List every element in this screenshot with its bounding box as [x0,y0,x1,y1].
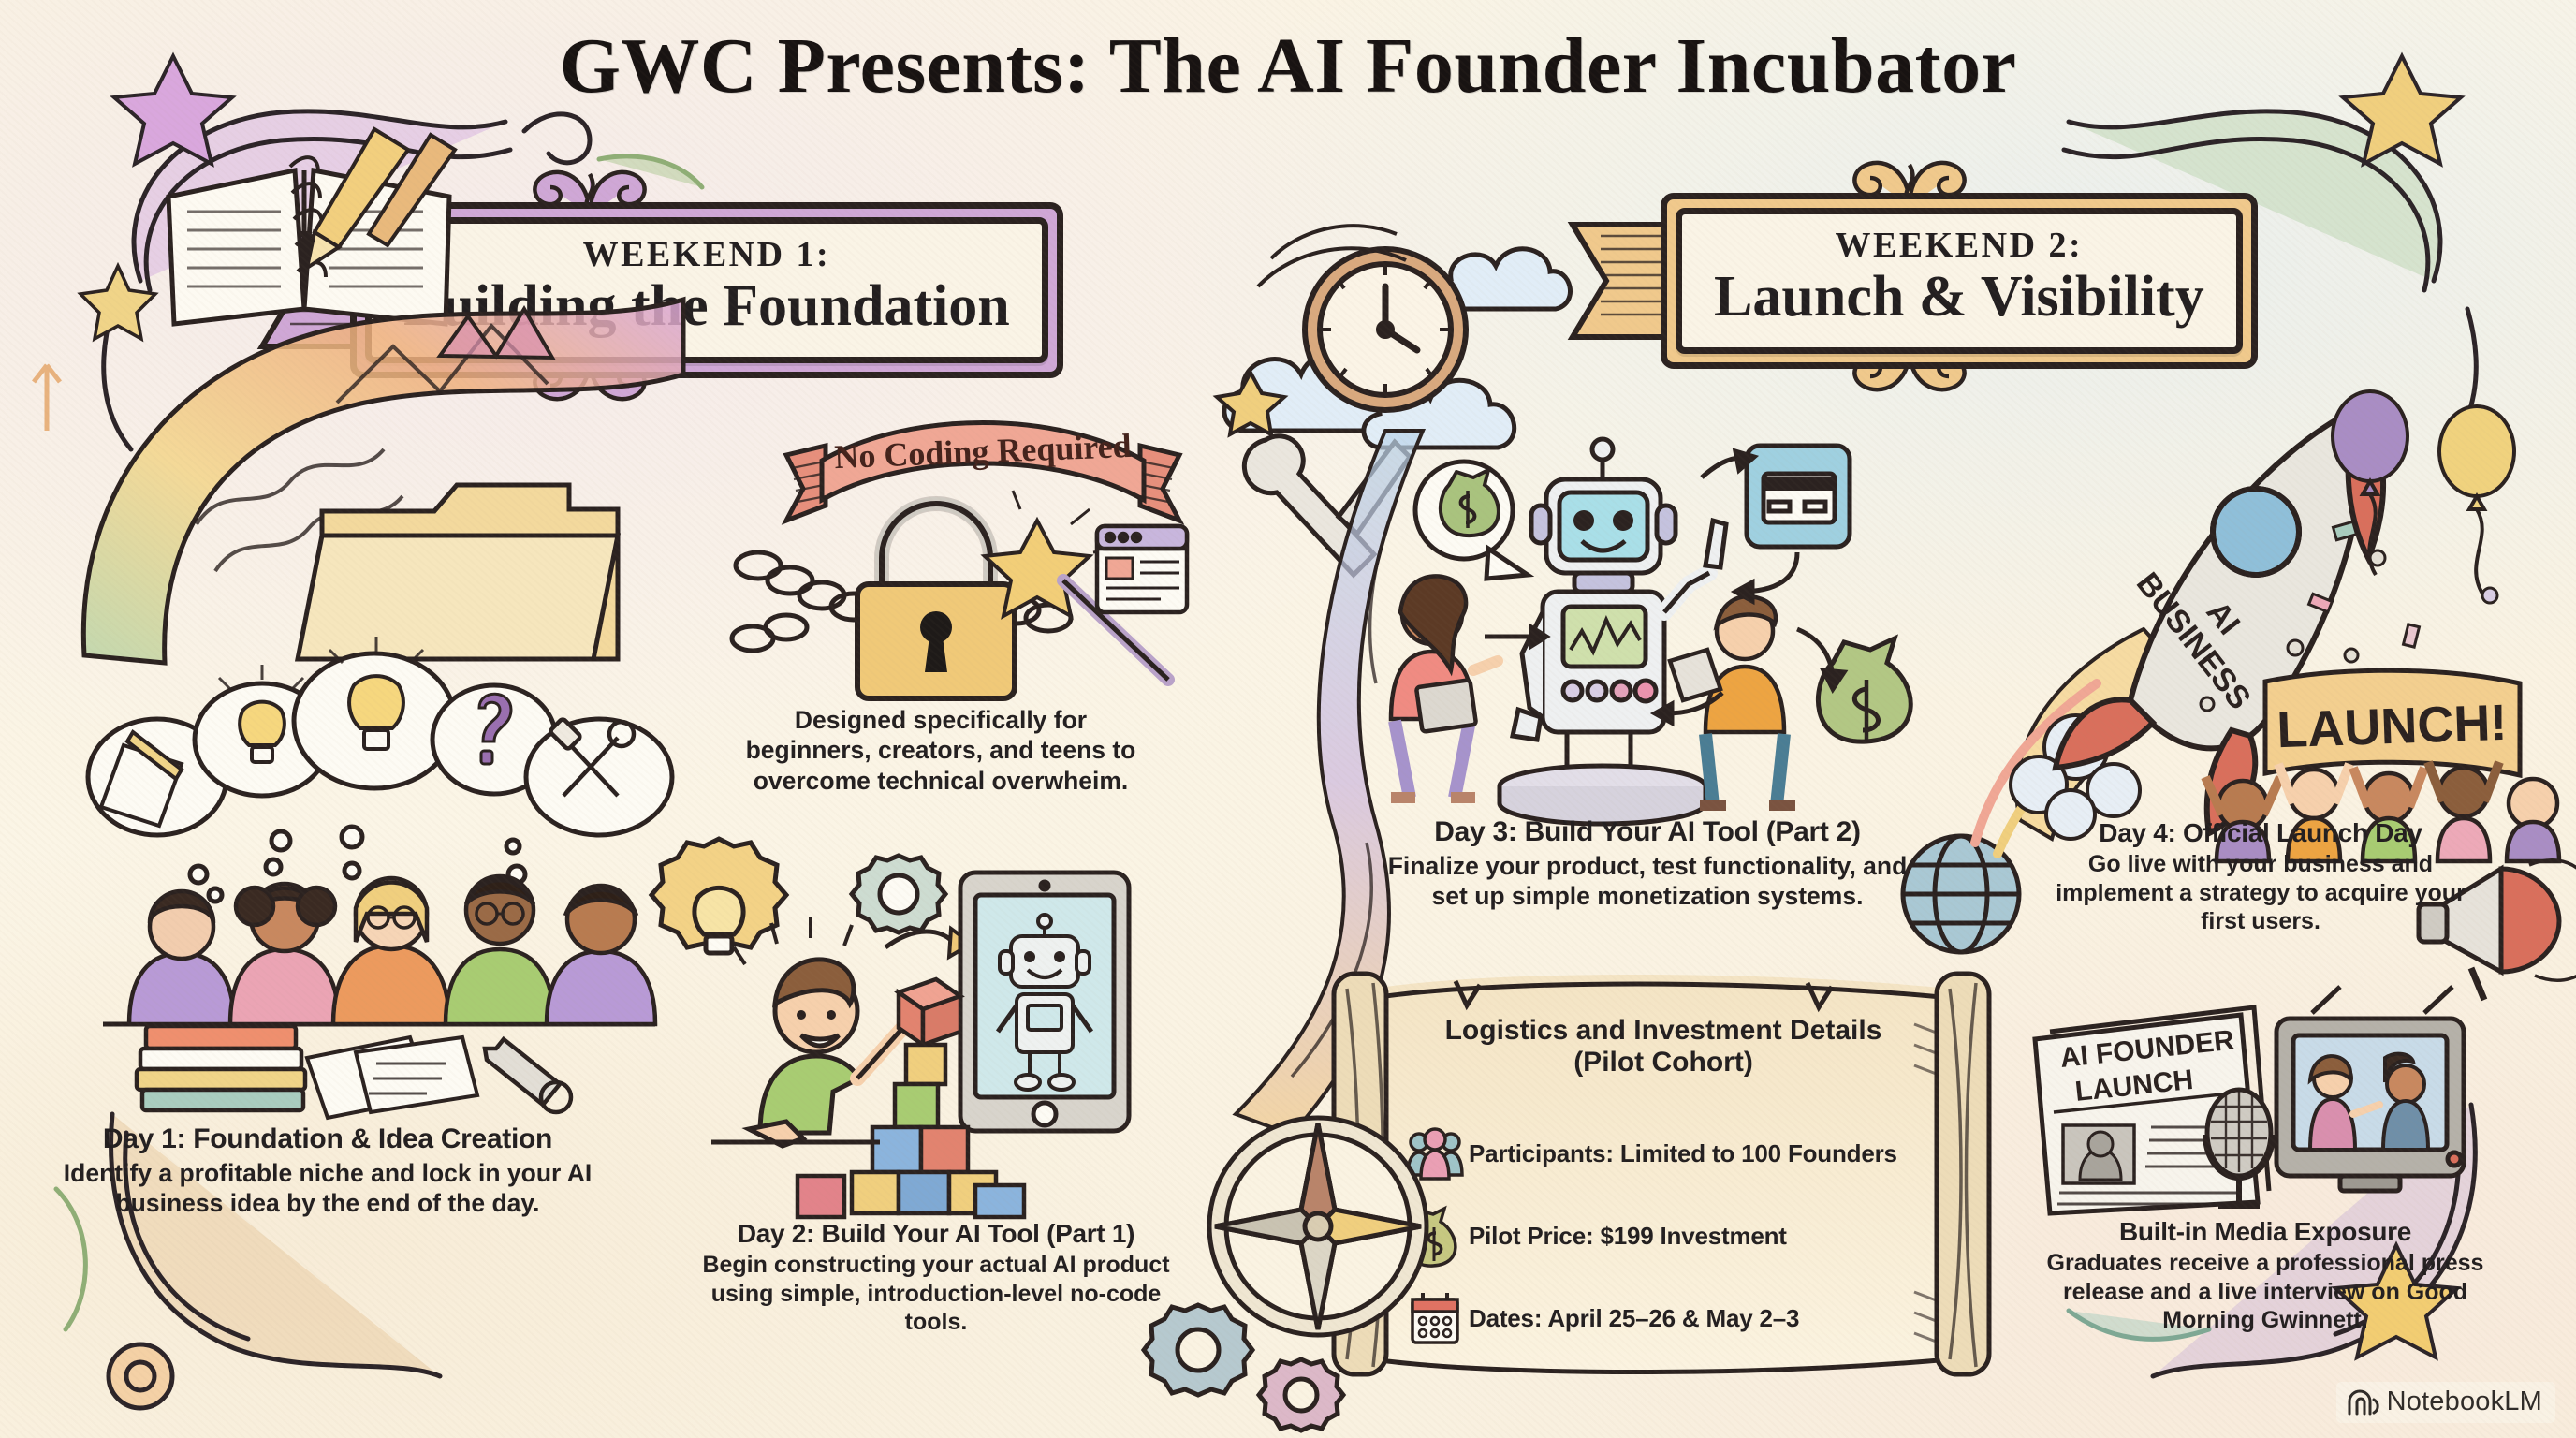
day-3-block: Day 3: Build Your AI Tool (Part 2) Final… [1367,816,1928,911]
scroll-item-dates-label: Dates: April 25–26 & May 2–3 [1469,1304,1799,1333]
newspaper-interview-illustration: AI FOUNDER LAUNCH [2031,1002,2481,1217]
infographic-canvas: GWC Presents: The AI Founder Incubator [0,0,2576,1438]
day-3-body: Finalize your product, test functionalit… [1367,851,1928,912]
scroll-item-price-label: Pilot Price: $199 Investment [1469,1222,1787,1251]
day-4-block: Day 4: Official Launch Day Go live with … [2041,818,2481,936]
scroll-title: Logistics and Investment Details (Pilot … [1392,1015,1935,1078]
scroll-item-price: Pilot Price: $199 Investment [1401,1195,1944,1277]
rocket-launch-illustration: AI BUSINESS LAUNCH! [1966,374,2565,861]
weekend-2-kicker: WEEKEND 2: [1714,227,2204,265]
boy-blocks-tablet-illustration [711,824,1161,1217]
notebooklm-label: NotebookLM [2387,1387,2542,1417]
no-coding-caption-text: Designed specifically for beginners, cre… [730,705,1151,796]
notebooklm-watermark: NotebookLM [2336,1382,2555,1423]
day-1-body: Identify a profitable niche and lock in … [56,1158,599,1219]
media-exposure-body: Graduates receive a professional press r… [2041,1249,2490,1335]
scroll-title-line1: Logistics and Investment Details [1392,1015,1935,1047]
scroll-item-dates: Dates: April 25–26 & May 2–3 [1401,1277,1944,1359]
day-1-heading: Day 1: Foundation & Idea Creation [56,1123,599,1155]
banner-2-plate: WEEKEND 2: Launch & Visibility [1676,208,2243,354]
day-1-block: Day 1: Foundation & Idea Creation Identi… [56,1123,599,1218]
scroll-items: Participants: Limited to 100 Founders Pi… [1401,1112,1944,1359]
day-2-heading: Day 2: Build Your AI Tool (Part 1) [693,1219,1179,1248]
scroll-item-participants: Participants: Limited to 100 Founders [1401,1112,1944,1195]
scroll-title-line2: (Pilot Cohort) [1392,1047,1935,1078]
day-2-block: Day 2: Build Your AI Tool (Part 1) Begin… [693,1219,1179,1337]
scroll-item-participants-label: Participants: Limited to 100 Founders [1469,1139,1897,1168]
day-4-body: Go live with your business and implement… [2041,850,2481,936]
media-exposure-block: Built-in Media Exposure Graduates receiv… [2041,1217,2490,1335]
launch-banner-label: LAUNCH! [2276,695,2508,759]
day-3-heading: Day 3: Build Your AI Tool (Part 2) [1367,816,1928,848]
no-coding-caption: Designed specifically for beginners, cre… [730,702,1151,796]
media-exposure-heading: Built-in Media Exposure [2041,1217,2490,1246]
page-title: GWC Presents: The AI Founder Incubator [0,21,2576,111]
day-2-body: Begin constructing your actual AI produc… [693,1251,1179,1337]
day-4-heading: Day 4: Official Launch Day [2041,818,2481,847]
padlock-chain-illustration [739,487,1189,712]
notebooklm-icon [2346,1388,2378,1416]
weekend-2-title: Launch & Visibility [1714,267,2204,329]
weekend-2-banner: WEEKEND 2: Launch & Visibility [1676,208,2243,354]
